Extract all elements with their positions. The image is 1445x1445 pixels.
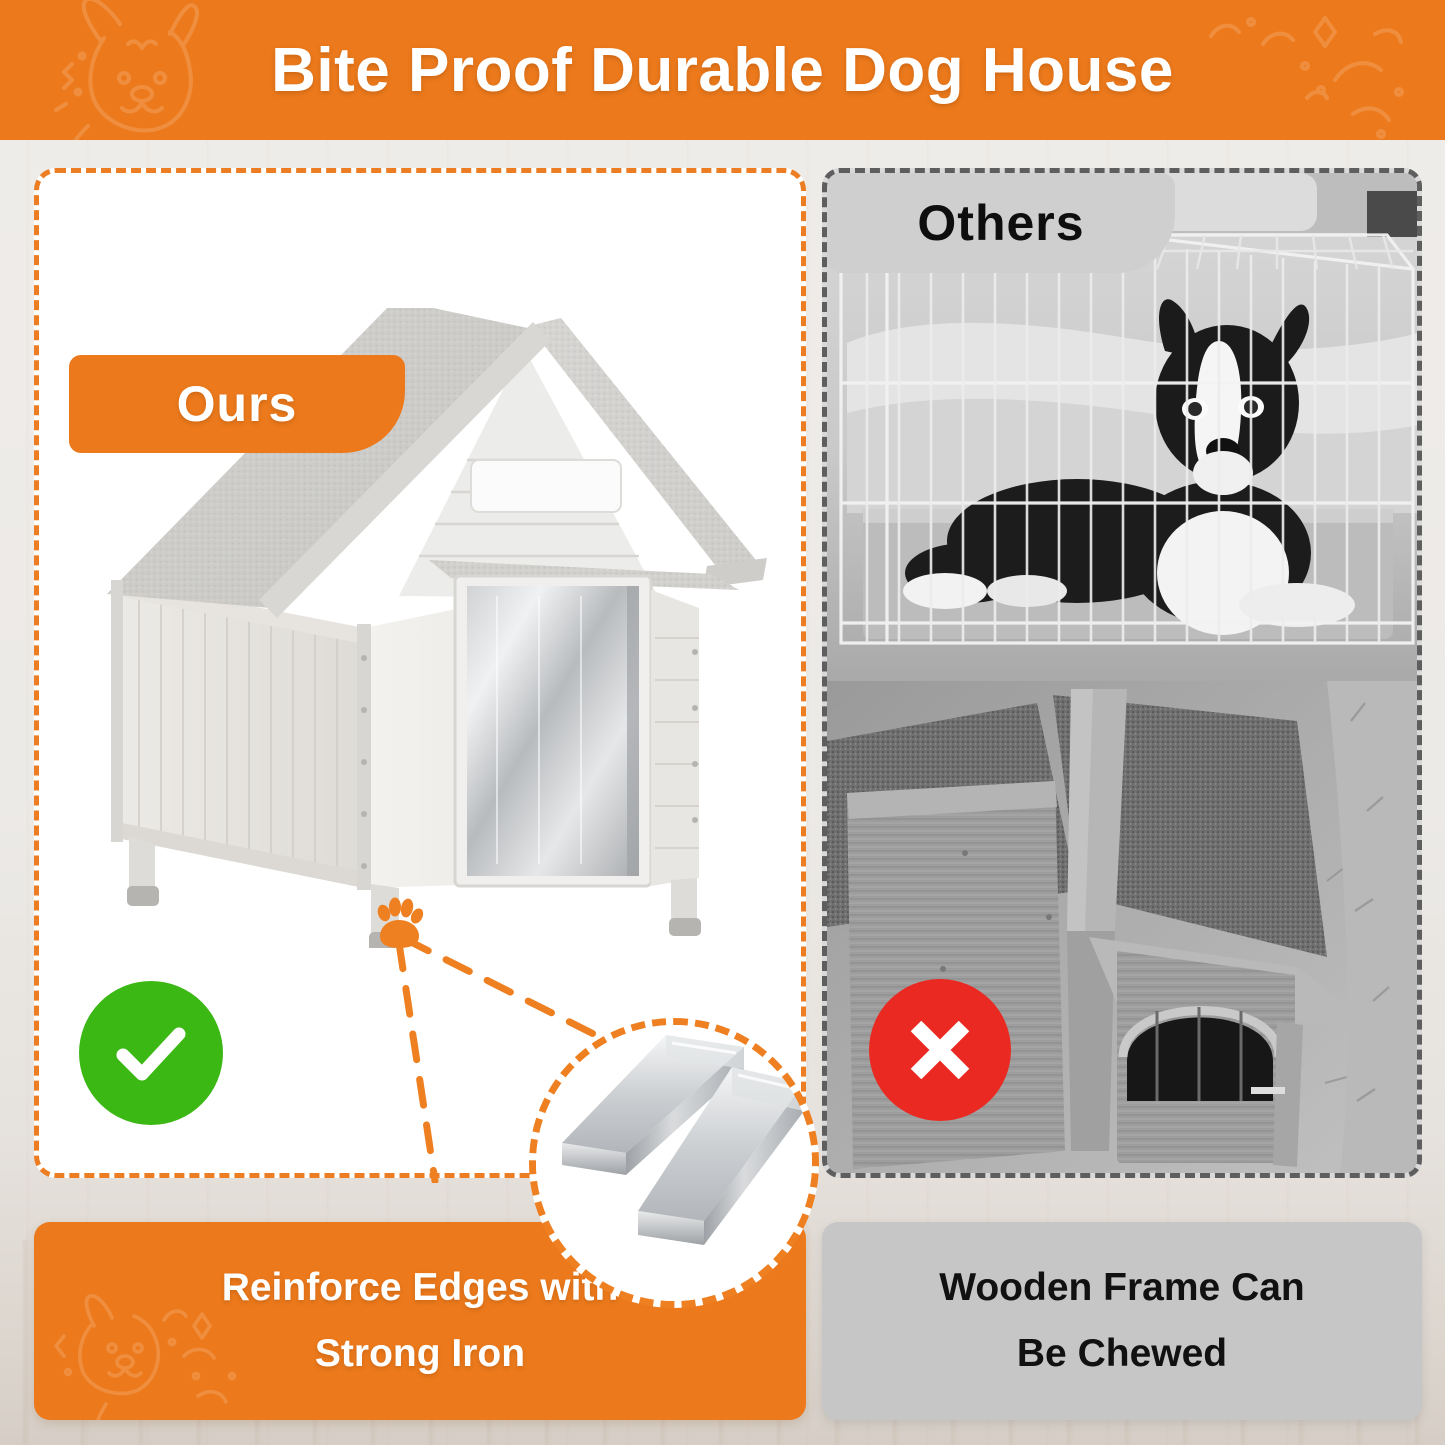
others-label-text: Others	[917, 194, 1084, 252]
ours-caption-line-2: Strong Iron	[315, 1332, 525, 1376]
page-title: Bite Proof Durable Dog House	[271, 35, 1174, 106]
others-caption-line-1: Wooden Frame Can	[939, 1266, 1305, 1310]
header-banner: Bite Proof Durable Dog House	[0, 0, 1445, 140]
dog-doodle-left-icon	[42, 0, 242, 140]
ours-caption-line-1: Reinforce Edges with	[222, 1266, 619, 1310]
ours-label-text: Ours	[177, 375, 298, 433]
paw-print-icon	[371, 896, 427, 952]
comparison-panels: Ours	[0, 140, 1445, 1200]
check-icon	[105, 1007, 197, 1099]
status-badge-rejected	[869, 979, 1011, 1121]
reinforced-edge-detail-callout	[529, 1018, 819, 1308]
x-icon	[896, 1006, 984, 1094]
others-label-tab: Others	[827, 173, 1175, 273]
infographic-page: Bite Proof Durable Dog House	[0, 0, 1445, 1445]
ours-panel: Ours	[34, 168, 806, 1178]
others-caption-line-2: Be Chewed	[1017, 1332, 1227, 1376]
ours-label-tab: Ours	[69, 355, 405, 453]
decor-doodle-right-icon	[1185, 0, 1435, 140]
status-badge-approved	[79, 981, 223, 1125]
others-caption-bar: Wooden Frame Can Be Chewed	[822, 1222, 1422, 1420]
others-panel: Others	[822, 168, 1422, 1178]
